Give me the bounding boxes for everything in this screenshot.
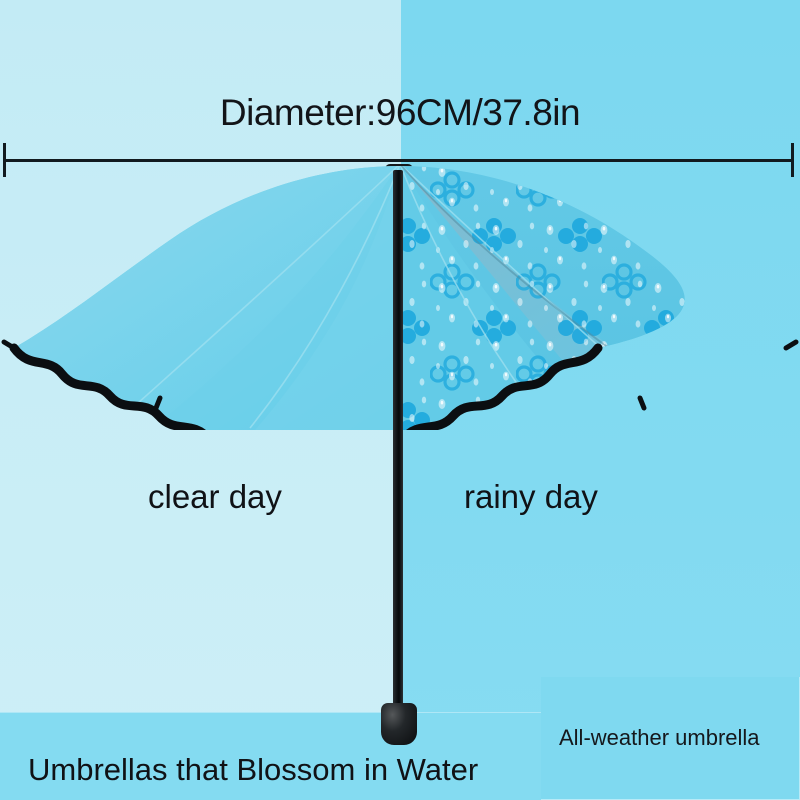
label-clear-day: clear day [148,478,282,516]
all-weather-badge: All-weather umbrella [541,677,800,800]
label-rainy-day: rainy day [464,478,598,516]
all-weather-badge-label: All-weather umbrella [559,725,760,751]
umbrella-shaft [393,170,403,715]
product-tagline: Umbrellas that Blossom in Water [28,752,478,788]
product-image-canvas: Diameter:96CM/37.8in [0,0,800,800]
umbrella-handle-cap [381,703,417,745]
